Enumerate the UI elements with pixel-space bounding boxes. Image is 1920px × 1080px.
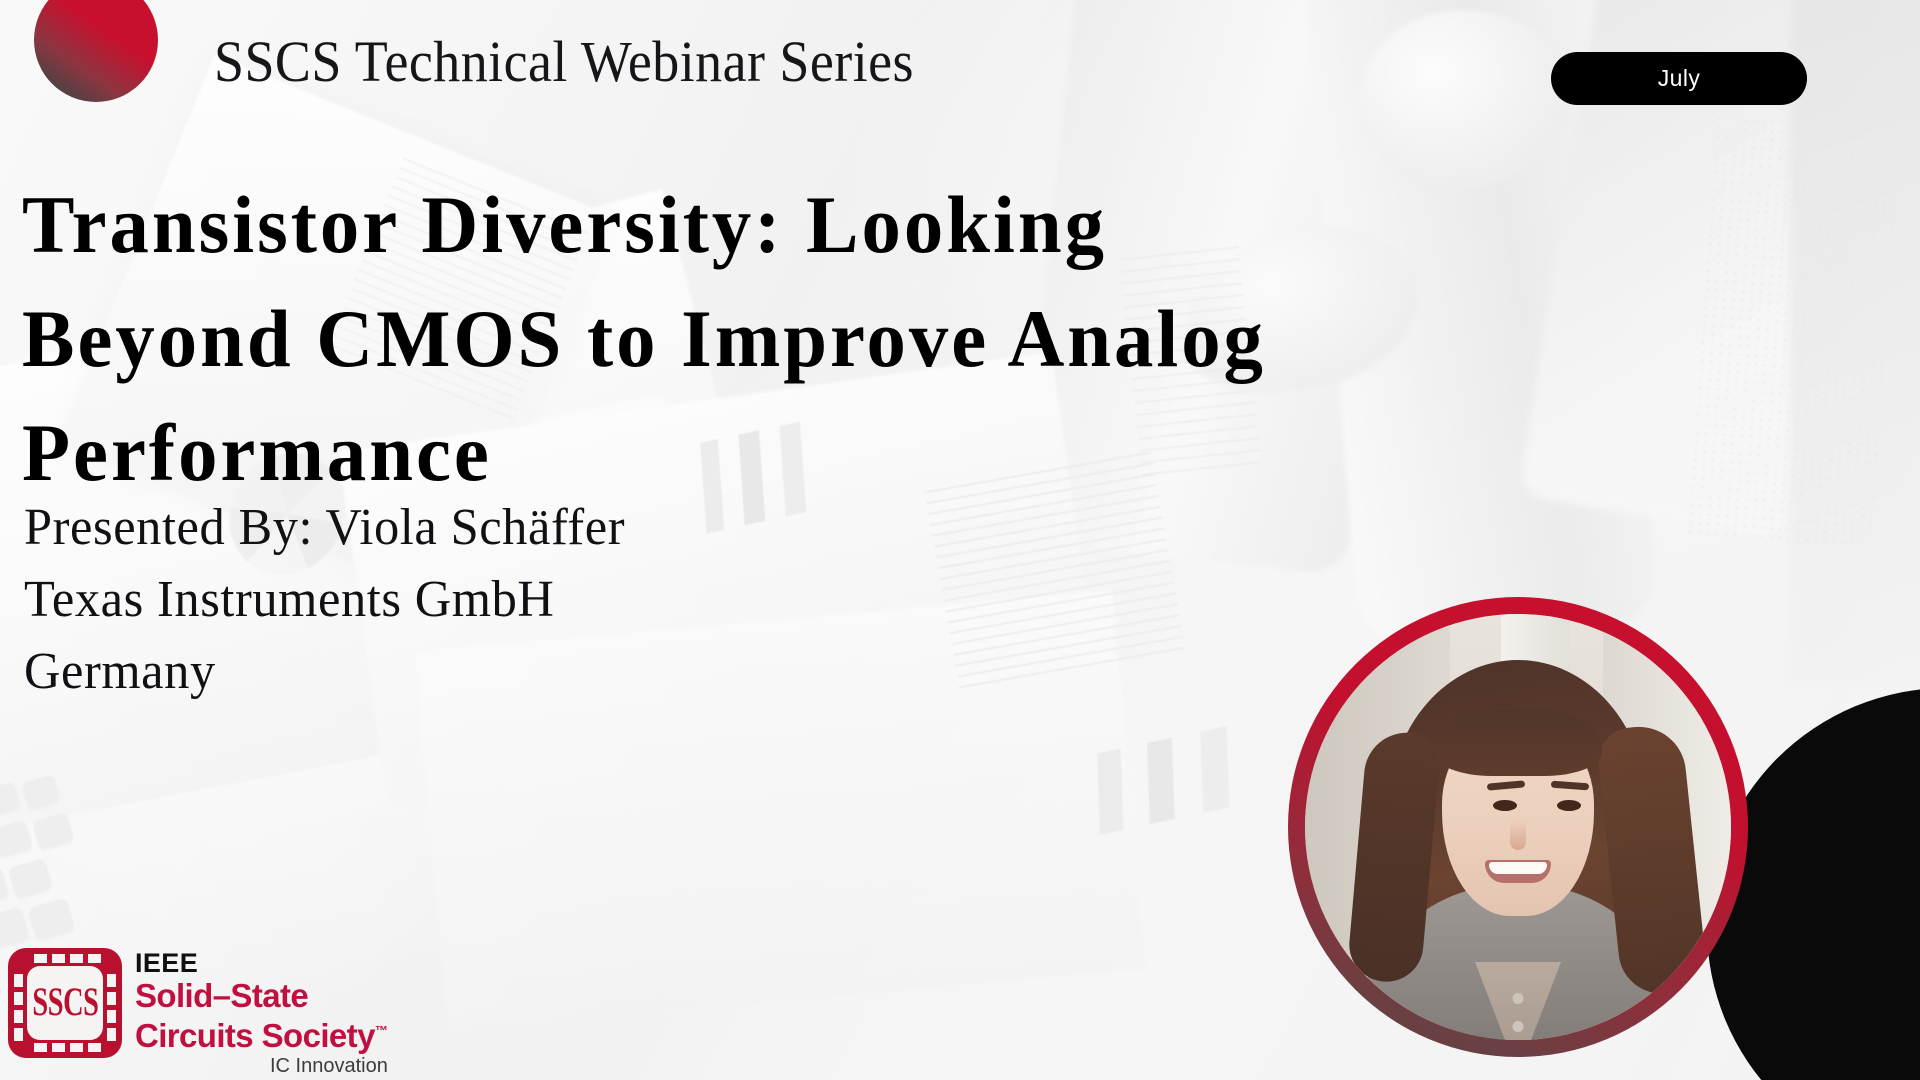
webinar-title: Transistor Diversity: Looking Beyond CMO… (22, 168, 1742, 510)
presenter-info: Presented By: Viola Schäffer Texas Instr… (24, 492, 644, 708)
society-name-text: Circuits Society (135, 1017, 375, 1054)
ieee-sscs-logo: SSCS IEEE Solid–State Circuits Society™ … (8, 948, 388, 1078)
speaker-avatar (1288, 597, 1748, 1057)
ieee-wordmark: IEEE (135, 949, 388, 978)
webinar-title-slide: July SSCS Technical Webinar Series Trans… (0, 0, 1920, 1080)
sscs-chip-label: SSCS (32, 980, 98, 1025)
series-title: SSCS Technical Webinar Series (214, 28, 914, 95)
title-line: Beyond CMOS to Improve Analog (22, 282, 1673, 396)
title-line: Transistor Diversity: Looking (22, 168, 1673, 282)
presenter-affiliation-line: Texas Instruments GmbH (24, 564, 625, 636)
society-name-line1: Solid–State (135, 978, 388, 1013)
month-badge: July (1551, 52, 1807, 105)
trademark-symbol: ™ (375, 1023, 388, 1038)
society-tagline: IC Innovation (135, 1054, 388, 1078)
speaker-photo (1305, 614, 1731, 1040)
month-badge-label: July (1658, 65, 1701, 92)
society-name-line2: Circuits Society™ (135, 1013, 388, 1053)
presenter-name-line: Presented By: Viola Schäffer (24, 492, 625, 564)
sscs-chip-icon: SSCS (8, 948, 122, 1058)
presenter-country-line: Germany (24, 636, 625, 708)
